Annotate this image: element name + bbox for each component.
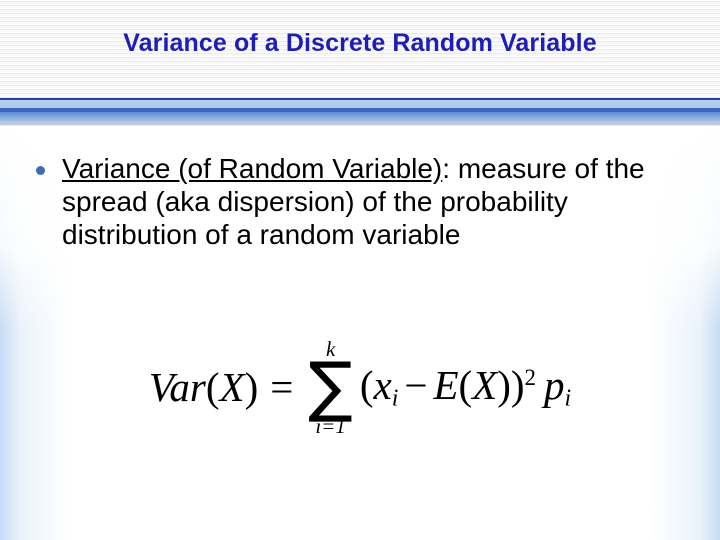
formula-expectation-label: E xyxy=(433,362,458,408)
formula-term-x: x xyxy=(374,362,392,408)
divider-light-band xyxy=(0,100,720,108)
slide-canvas: Variance of a Discrete Random Variable V… xyxy=(0,0,720,540)
formula-expectation-arg: X xyxy=(472,362,497,408)
formula-prob-p: p xyxy=(544,362,565,408)
formula-term-paren-open: ( xyxy=(360,362,374,408)
bullet-list-item: Variance (of Random Variable): measure o… xyxy=(36,152,676,251)
divider-gradient-band xyxy=(0,112,720,124)
header-divider-bar xyxy=(0,98,720,126)
formula-prob-p-subscript: i xyxy=(564,385,571,411)
formula-expectation-paren-close: ) xyxy=(497,362,511,408)
summation-operator: k ∑ i=1 xyxy=(308,339,352,436)
variance-formula: Var(X) = k ∑ i=1 (xi−E(X))2pi xyxy=(0,338,720,435)
formula-expectation-paren-open: ( xyxy=(458,362,472,408)
bullet-text: Variance (of Random Variable): measure o… xyxy=(62,152,652,251)
slide-content: Variance (of Random Variable): measure o… xyxy=(0,126,720,540)
sigma-icon: ∑ xyxy=(308,356,352,418)
formula-term-paren-close: ) xyxy=(511,362,525,408)
formula-term-x-subscript: i xyxy=(392,385,399,411)
formula-rhs: (xi−E(X))2pi xyxy=(360,361,571,413)
formula-minus-sign: − xyxy=(404,362,427,408)
formula-var-label: Var xyxy=(149,364,206,410)
slide-header: Variance of a Discrete Random Variable xyxy=(0,0,720,98)
bullet-dot-icon xyxy=(36,166,45,175)
formula-lhs: Var(X) xyxy=(149,363,258,411)
formula-equals: = xyxy=(270,363,293,411)
slide-title: Variance of a Discrete Random Variable xyxy=(0,29,720,58)
formula-lhs-paren-open: ( xyxy=(206,364,220,410)
bullet-underlined-term: Variance (of Random Variable) xyxy=(62,153,442,184)
formula-lhs-arg: X xyxy=(220,364,245,410)
formula-exponent: 2 xyxy=(525,364,536,389)
formula-lhs-paren-close: ) xyxy=(245,364,259,410)
